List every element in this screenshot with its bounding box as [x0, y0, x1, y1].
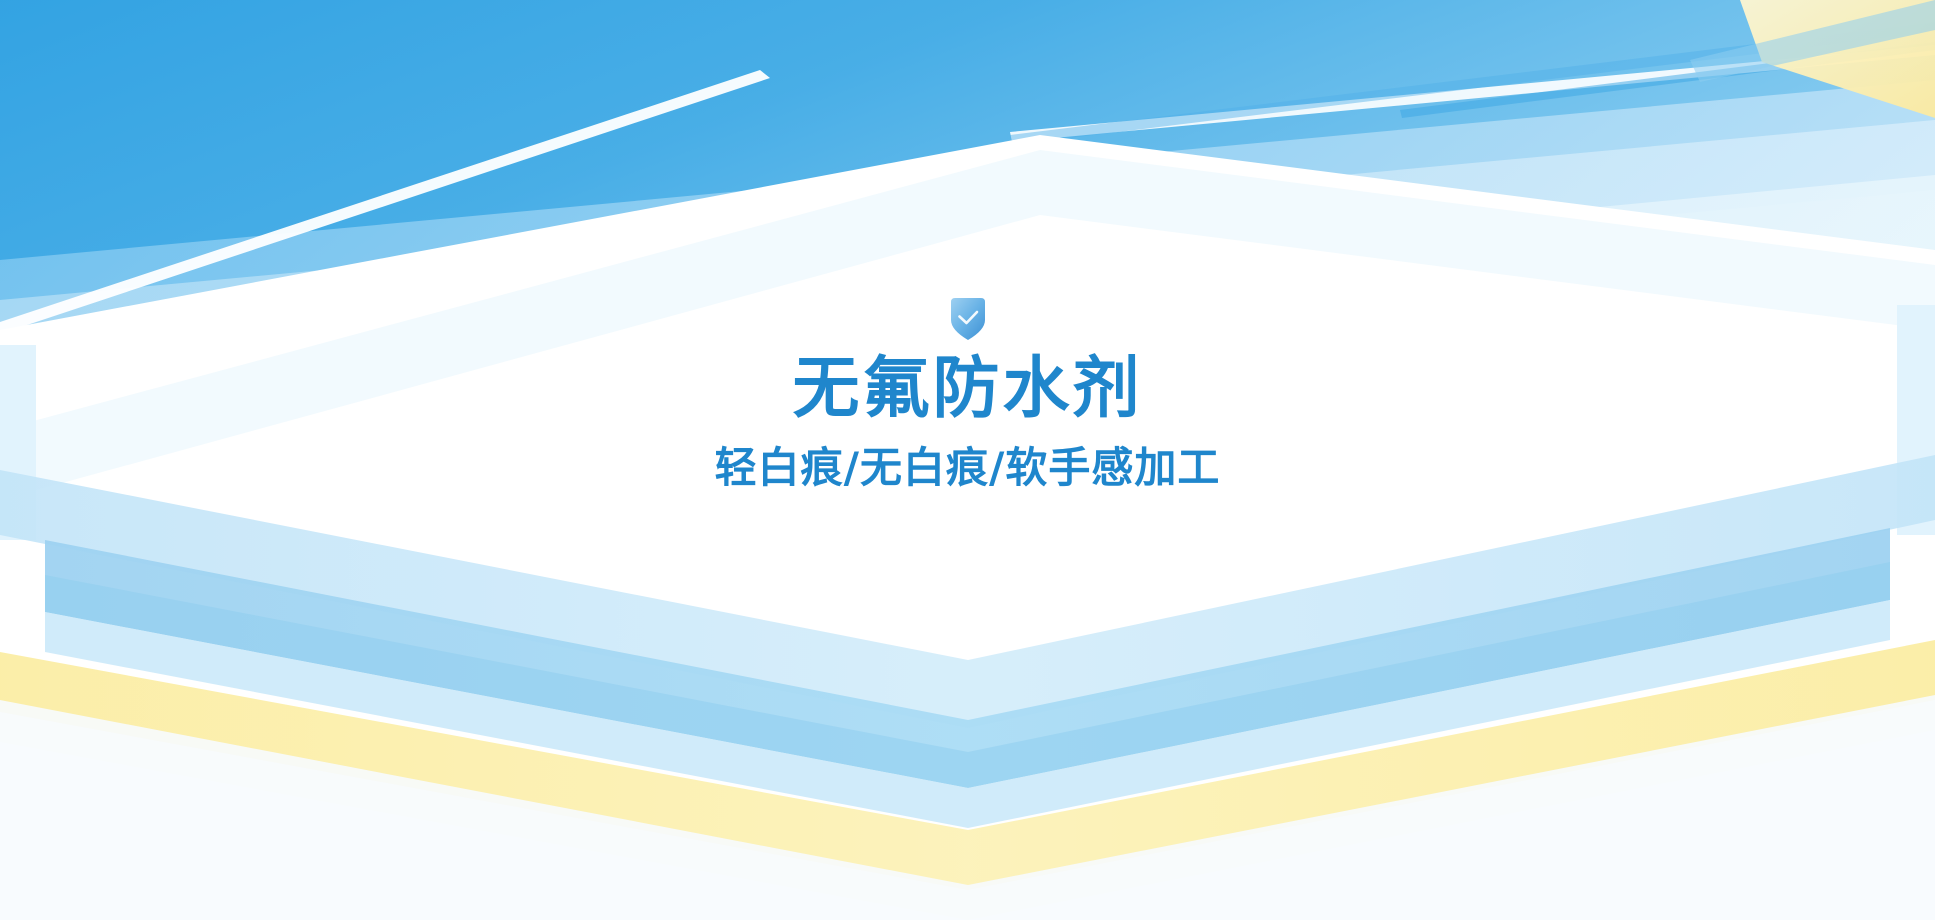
decorative-background-art [0, 0, 1935, 920]
product-hero-banner: 无氟防水剂 轻白痕/无白痕/软手感加工 [0, 0, 1935, 920]
